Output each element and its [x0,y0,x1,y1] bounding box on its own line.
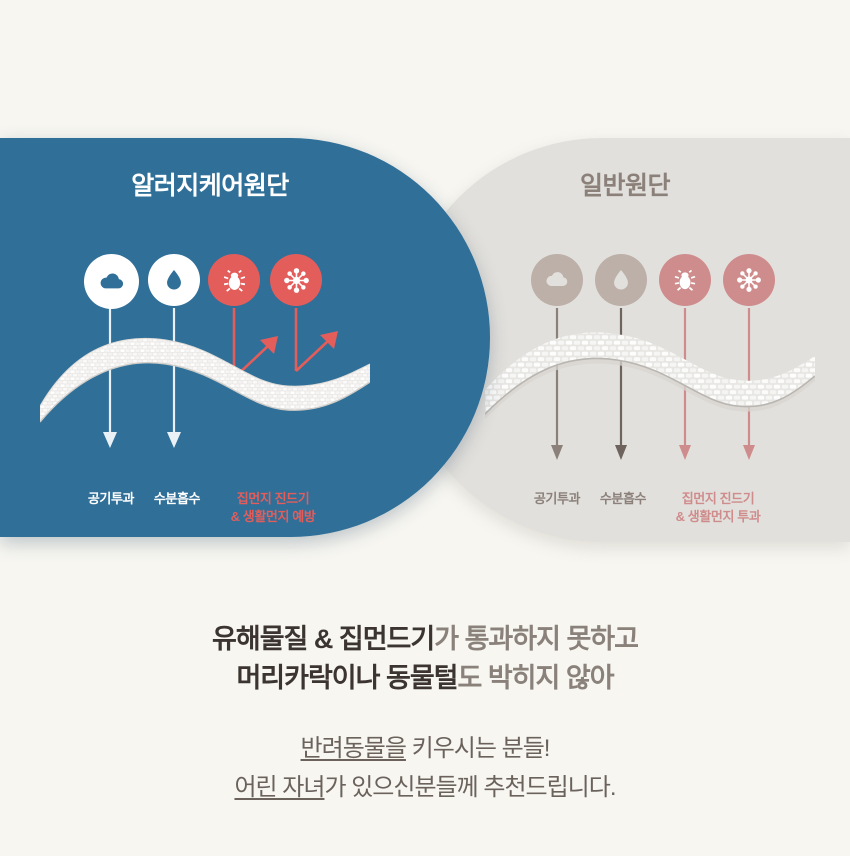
label-dustmite-line1-allergy: 집먼지 진드기 [231,490,316,508]
footer-line-2: 머리카락이나 동물털도 박히지 않아 [0,659,850,698]
fabric-swatch-loose-weave [485,318,815,428]
allergy-care-icon-row [0,254,490,314]
label-air-permeable-allergy: 공기투과 [88,490,134,508]
label-dustmite-allergy: 집먼지 진드기 & 생활먼지 예방 [231,490,316,525]
footer-line4-rest: 가 있으신분들께 추천드립니다. [324,774,615,801]
footer-spacer [0,698,850,730]
footer-line1-strong: 유해물질 & 집먼드기 [212,624,434,654]
label-dustmite-line2-allergy: & 생활먼지 예방 [231,508,316,526]
panel-allergy-care-fabric: 알러지케어원단 [0,138,490,537]
footer-line-1: 유해물질 & 집먼드기가 통과하지 못하고 [0,620,850,659]
footer-line2-soft: 도 박히지 않아 [458,663,614,693]
footer-line2-strong: 머리카락이나 동물털 [236,663,457,693]
mite-icon [659,254,711,306]
footer-line3-underline: 반려동물을 [301,735,406,762]
label-air-permeable-ordinary: 공기투과 [534,490,580,508]
label-dustmite-ordinary: 집먼지 진드기 & 생활먼지 투과 [676,490,761,525]
fabric-swatch-tight-weave [40,328,370,428]
mite-icon [208,254,260,306]
cloud-icon [531,254,583,306]
allergy-care-labels: 공기투과 수분흡수 집먼지 진드기 & 생활먼지 예방 [0,468,490,538]
fabric-comparison-band: 일반원단 [0,138,850,548]
label-moisture-absorb-ordinary: 수분흡수 [600,490,646,508]
label-moisture-absorb-allergy: 수분흡수 [154,490,200,508]
footer-line-4: 어린 자녀가 있으신분들께 추천드립니다. [0,769,850,807]
droplet-icon [148,254,200,306]
label-dustmite-line2-ordinary: & 생활먼지 투과 [676,508,761,526]
footer-line1-soft: 가 통과하지 못하고 [434,624,638,654]
cloud-icon [84,254,139,309]
dust-icon [270,254,322,306]
droplet-icon [595,254,647,306]
footer-copy: 유해물질 & 집먼드기가 통과하지 못하고 머리카락이나 동물털도 박히지 않아… [0,620,850,807]
label-dustmite-line1-ordinary: 집먼지 진드기 [676,490,761,508]
dust-icon [723,254,775,306]
footer-line3-rest: 키우시는 분들! [406,735,549,762]
footer-line-3: 반려동물을 키우시는 분들! [0,730,850,768]
footer-line4-underline: 어린 자녀 [234,774,324,801]
